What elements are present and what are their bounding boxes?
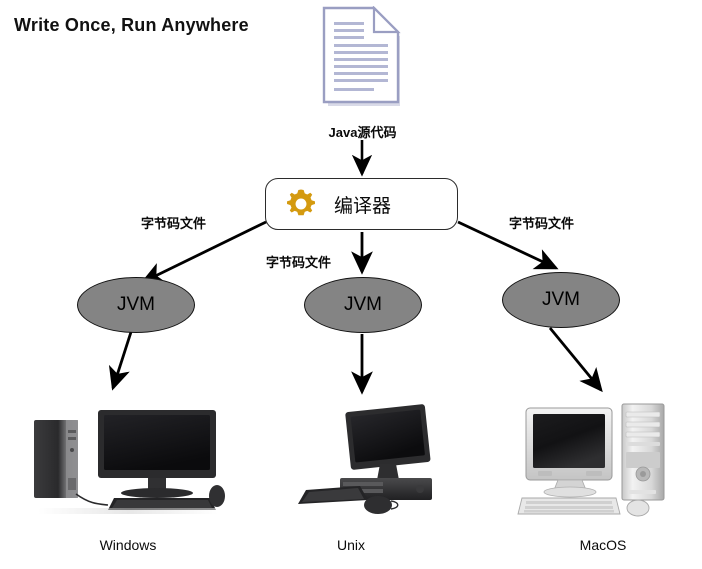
source-caption: Java源代码	[290, 122, 435, 141]
arrow-jvm-to-macos	[550, 328, 601, 390]
bytecode-label-left: 字节码文件	[141, 213, 206, 232]
compiler-node[interactable]: 编译器	[265, 178, 458, 230]
bytecode-label-center: 字节码文件	[266, 252, 331, 271]
compiler-label: 编译器	[334, 191, 391, 218]
page-title: Write Once, Run Anywhere	[14, 15, 249, 36]
diagram-canvas: Write Once, Run Anywhere Java源代码	[0, 0, 702, 569]
bytecode-label-right: 字节码文件	[509, 213, 574, 232]
platform-label-macos: MacOS	[548, 537, 658, 553]
jvm-label: JVM	[344, 294, 382, 316]
jvm-node-macos[interactable]: JVM	[502, 272, 620, 328]
document-icon	[320, 6, 404, 110]
platform-label-unix: Unix	[306, 537, 396, 553]
arrow-jvm-to-windows	[113, 332, 131, 388]
jvm-node-windows[interactable]: JVM	[77, 277, 195, 333]
desktop-computer-black-icon	[28, 404, 228, 522]
jvm-label: JVM	[117, 294, 155, 316]
jvm-node-unix[interactable]: JVM	[304, 277, 422, 333]
jvm-label: JVM	[542, 289, 580, 311]
desktop-computer-black-icon	[296, 404, 456, 522]
platform-label-windows: Windows	[58, 537, 198, 553]
desktop-computer-beige-icon	[516, 398, 676, 528]
gear-icon	[284, 187, 318, 221]
